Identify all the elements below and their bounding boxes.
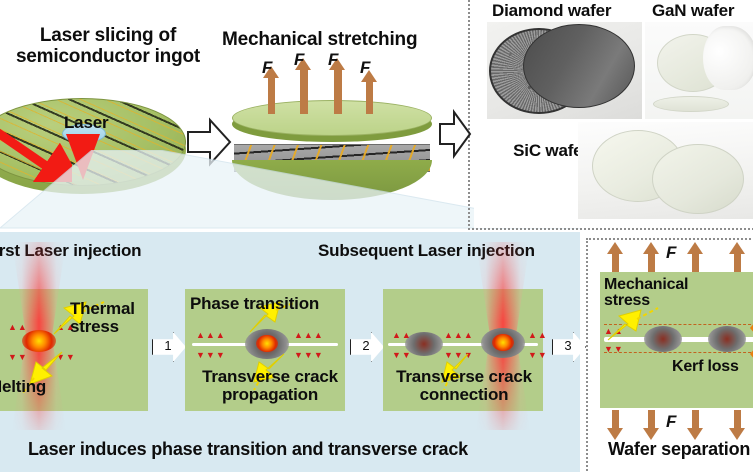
melting-label: Melting [0, 378, 46, 396]
stress-ticks-b2: ▼▼▼ [196, 350, 226, 360]
force-label-3: F [328, 50, 338, 70]
residual-spot-2-icon [708, 326, 746, 352]
sep-force-bottom-label: F [666, 412, 676, 432]
gan-wafer-label: GaN wafer [652, 2, 734, 20]
sep-force-up-4-head-icon [729, 242, 745, 254]
sic-wafer-photo [578, 122, 753, 219]
force-arrow-2-shaft [300, 70, 308, 114]
force-arrow-3-shaft [334, 70, 342, 114]
phase-transition-label: Phase transition [190, 295, 319, 313]
step-arrow-2-number: 2 [356, 338, 376, 353]
force-label-1: F [262, 58, 272, 78]
stress-ticks-b1: ▲▲▲ [196, 330, 226, 340]
mechanical-stretching-title: Mechanical stretching [222, 30, 417, 51]
sep-force-up-2-shaft [648, 252, 655, 272]
separation-caption: Wafer separation [608, 440, 750, 459]
stress-ticks-a1: ▲▲ [8, 322, 28, 332]
melting-hotspot-icon [22, 330, 56, 352]
upper-wafer [232, 100, 432, 144]
flow-arrow-to-wafers-icon [438, 108, 472, 160]
step-arrow-1: 1 [152, 332, 186, 362]
step-arrow-2: 2 [350, 332, 384, 362]
sep-force-down-2-shaft [648, 410, 655, 430]
stress-ticks-c3: ▲▲▲ [444, 330, 474, 340]
gan-wafer-lower [653, 96, 729, 112]
stress-ticks-c5: ▲▲ [528, 330, 548, 340]
sep-force-down-1-shaft [612, 410, 619, 430]
stress-ticks-c6: ▼▼ [528, 350, 548, 360]
sep-force-up-2-head-icon [643, 242, 659, 254]
stress-ticks-c2: ▼▼ [392, 350, 412, 360]
force-arrow-4-shaft [366, 82, 373, 114]
crack-propagation-label: Transverse crack propagation [190, 368, 350, 405]
force-arrow-1-shaft [268, 78, 275, 114]
process-caption: Laser induces phase transition and trans… [28, 440, 468, 459]
force-label-4: F [360, 58, 370, 78]
kerf-loss-label: Kerf loss [672, 358, 739, 375]
sep-force-top-label: F [666, 243, 676, 263]
gloved-hand [703, 26, 753, 90]
sep-force-down-3-shaft [692, 410, 699, 430]
phase-transition-core-icon [256, 335, 278, 352]
upper-wafer-top [232, 100, 432, 136]
diamond-wafer-photo [487, 22, 642, 119]
laser-slicing-title: Laser slicing of semiconductor ingot [8, 26, 208, 67]
sep-force-up-4-shaft [734, 252, 741, 272]
crack-connection-label: Transverse crack connection [386, 368, 542, 405]
gan-wafer-photo [645, 22, 753, 119]
step-arrow-1-number: 1 [158, 338, 178, 353]
kerf-lower-boundary [604, 352, 753, 353]
thermal-stress-label: Thermal stress [70, 300, 156, 337]
diamond-polished-wafer [523, 24, 635, 108]
diamond-wafer-label: Diamond wafer [492, 2, 611, 20]
sep-force-up-3-head-icon [687, 242, 703, 254]
current-transition-core-icon [492, 334, 514, 351]
sep-force-up-1-head-icon [607, 242, 623, 254]
step-arrow-3-number: 3 [558, 338, 578, 353]
step-arrow-3: 3 [552, 332, 586, 362]
mechanical-stress-label: Mechanical stress [604, 277, 714, 309]
mechanical-stress-arrow-icon [606, 306, 662, 344]
sep-force-up-3-shaft [692, 252, 699, 272]
laser-label: Laser [64, 114, 108, 132]
figure-root: Laser slicing of semiconductor ingot Mec… [0, 0, 753, 472]
force-label-2: F [294, 50, 304, 70]
sic-wafer-right [652, 144, 744, 214]
sep-stress-ticks-2: ▼▼ [604, 344, 624, 354]
stress-ticks-c1: ▲▲ [392, 330, 412, 340]
sep-force-up-1-shaft [612, 252, 619, 272]
sep-force-down-4-shaft [734, 410, 741, 430]
